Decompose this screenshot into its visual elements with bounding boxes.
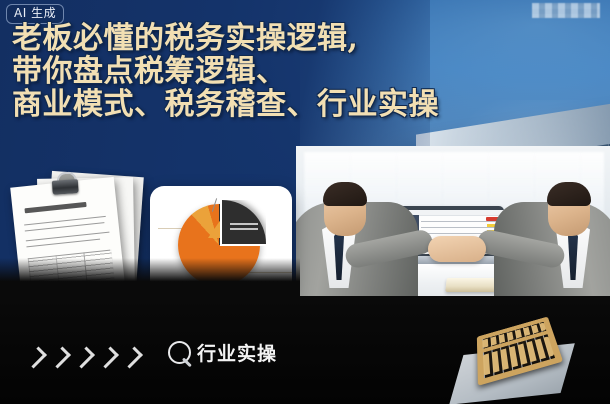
chevron-right-icon <box>73 347 95 369</box>
person-right <box>494 170 610 306</box>
search-tag: 行业实操 <box>168 341 277 367</box>
chevron-right-icon <box>49 347 71 369</box>
magnifier-icon <box>168 341 194 367</box>
person-left <box>296 170 418 306</box>
handshake-businessmen-photo <box>296 146 610 306</box>
headline-line-2: 带你盘点税筹逻辑、 <box>12 55 572 88</box>
course-cover-image: AI 生成 老板必懂的税务实操逻辑, 带你盘点税筹逻辑、 商业模式、税务稽查、行… <box>0 0 610 404</box>
search-tag-label: 行业实操 <box>197 343 277 365</box>
chevron-row <box>30 348 138 367</box>
pie-slice-tax-cost <box>220 200 266 246</box>
headline-line-1: 老板必懂的税务实操逻辑, <box>12 22 572 55</box>
binder-clip-icon <box>51 171 78 195</box>
page-title: 老板必懂的税务实操逻辑, 带你盘点税筹逻辑、 商业模式、税务稽查、行业实操 <box>12 22 572 121</box>
pixelated-watermark <box>532 3 600 18</box>
chevron-right-icon <box>97 347 119 369</box>
wooden-abacus <box>462 316 568 396</box>
handshake <box>428 236 486 262</box>
headline-line-3: 商业模式、税务稽查、行业实操 <box>12 88 572 121</box>
